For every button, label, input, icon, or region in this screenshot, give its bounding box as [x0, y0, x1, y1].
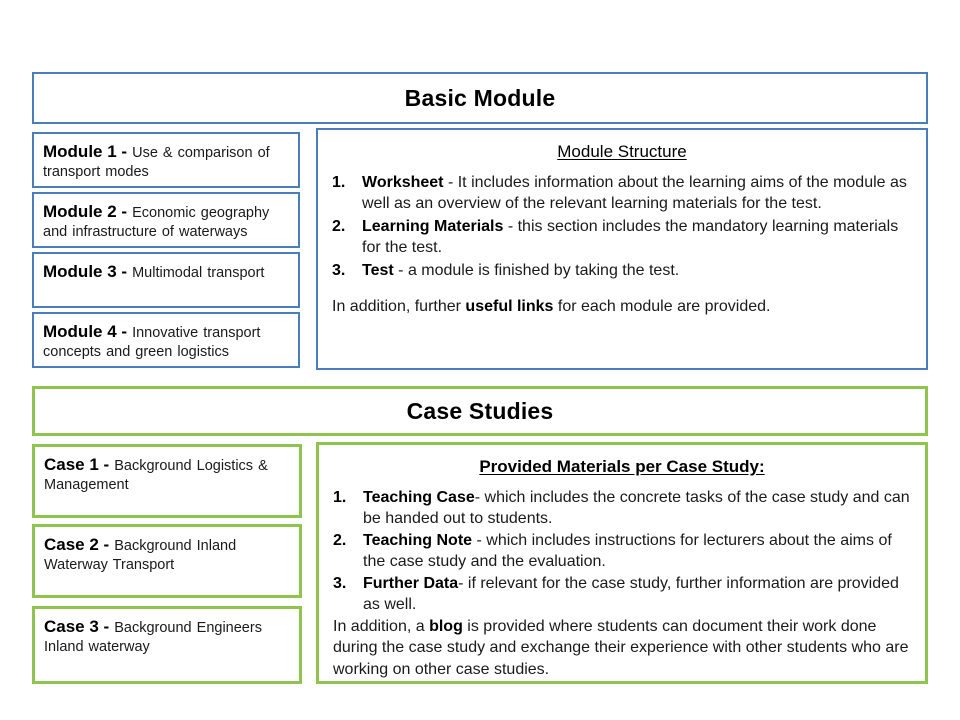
module-structure-note-before: In addition, further — [332, 298, 465, 315]
module-card-4-lead: Module 4 - — [43, 322, 127, 341]
module-structure-spacer — [332, 282, 912, 296]
case-materials-item-3-strong: Further Data — [363, 575, 458, 592]
basic-module-title: Basic Module — [405, 85, 556, 112]
module-structure-note: In addition, further useful links for ea… — [332, 296, 912, 317]
case-card-1-lead: Case 1 - — [44, 455, 109, 474]
case-card-2[interactable]: Case 2 - Background Inland Waterway Tran… — [32, 524, 302, 598]
module-card-2-lead: Module 2 - — [43, 202, 127, 221]
module-structure-item-3: Test - a module is finished by taking th… — [362, 260, 912, 281]
case-materials-item-2: Teaching Note - which includes instructi… — [363, 530, 911, 573]
case-card-3-lead: Case 3 - — [44, 617, 109, 636]
case-card-2-lead: Case 2 - — [44, 535, 109, 554]
case-card-1-text: Case 1 - Background Logistics & Manageme… — [44, 454, 291, 496]
module-card-4[interactable]: Module 4 - Innovative transport concepts… — [32, 312, 300, 368]
module-structure-note-strong: useful links — [465, 298, 553, 315]
module-card-1-text: Module 1 - Use & comparison of transport… — [43, 141, 290, 183]
module-structure-panel: Module Structure Worksheet - It includes… — [316, 128, 928, 370]
module-structure-item-2-strong: Learning Materials — [362, 218, 503, 235]
module-card-3-rest: Multimodal transport — [127, 265, 264, 281]
case-materials-panel: Provided Materials per Case Study: Teach… — [316, 442, 928, 684]
module-structure-item-1: Worksheet - It includes information abou… — [362, 172, 912, 215]
case-materials-list: Teaching Case- which includes the concre… — [333, 487, 911, 616]
case-materials-note: In addition, a blog is provided where st… — [333, 616, 911, 680]
module-structure-list: Worksheet - It includes information abou… — [332, 172, 912, 281]
module-structure-heading: Module Structure — [332, 142, 912, 162]
case-materials-note-before: In addition, a — [333, 618, 429, 635]
basic-module-banner: Basic Module — [32, 72, 928, 124]
case-materials-heading: Provided Materials per Case Study: — [333, 457, 911, 477]
module-structure-note-after: for each module are provided. — [553, 298, 770, 315]
module-structure-item-3-rest: - a module is finished by taking the tes… — [394, 262, 679, 279]
case-materials-note-strong: blog — [429, 618, 463, 635]
case-card-3[interactable]: Case 3 - Background Engineers Inland wat… — [32, 606, 302, 684]
case-materials-item-1: Teaching Case- which includes the concre… — [363, 487, 911, 530]
module-structure-item-3-strong: Test — [362, 262, 394, 279]
case-card-3-text: Case 3 - Background Engineers Inland wat… — [44, 616, 291, 658]
module-card-4-text: Module 4 - Innovative transport concepts… — [43, 321, 290, 363]
case-card-1[interactable]: Case 1 - Background Logistics & Manageme… — [32, 444, 302, 518]
case-card-2-text: Case 2 - Background Inland Waterway Tran… — [44, 534, 291, 576]
case-studies-banner: Case Studies — [32, 386, 928, 436]
module-card-2-text: Module 2 - Economic geography and infras… — [43, 201, 290, 243]
module-card-2[interactable]: Module 2 - Economic geography and infras… — [32, 192, 300, 248]
module-structure-item-1-rest: - It includes information about the lear… — [362, 174, 907, 212]
case-materials-item-3: Further Data- if relevant for the case s… — [363, 573, 911, 616]
module-card-1[interactable]: Module 1 - Use & comparison of transport… — [32, 132, 300, 188]
slide-canvas: Basic Module Module 1 - Use & comparison… — [0, 0, 960, 720]
module-card-3[interactable]: Module 3 - Multimodal transport — [32, 252, 300, 308]
module-structure-item-2: Learning Materials - this section includ… — [362, 216, 912, 259]
case-materials-item-2-strong: Teaching Note — [363, 532, 472, 549]
module-card-1-lead: Module 1 - — [43, 142, 127, 161]
module-card-3-lead: Module 3 - — [43, 262, 127, 281]
case-materials-item-1-strong: Teaching Case — [363, 489, 475, 506]
case-studies-title: Case Studies — [407, 398, 554, 425]
module-structure-item-1-strong: Worksheet — [362, 174, 444, 191]
module-card-3-text: Module 3 - Multimodal transport — [43, 261, 290, 283]
